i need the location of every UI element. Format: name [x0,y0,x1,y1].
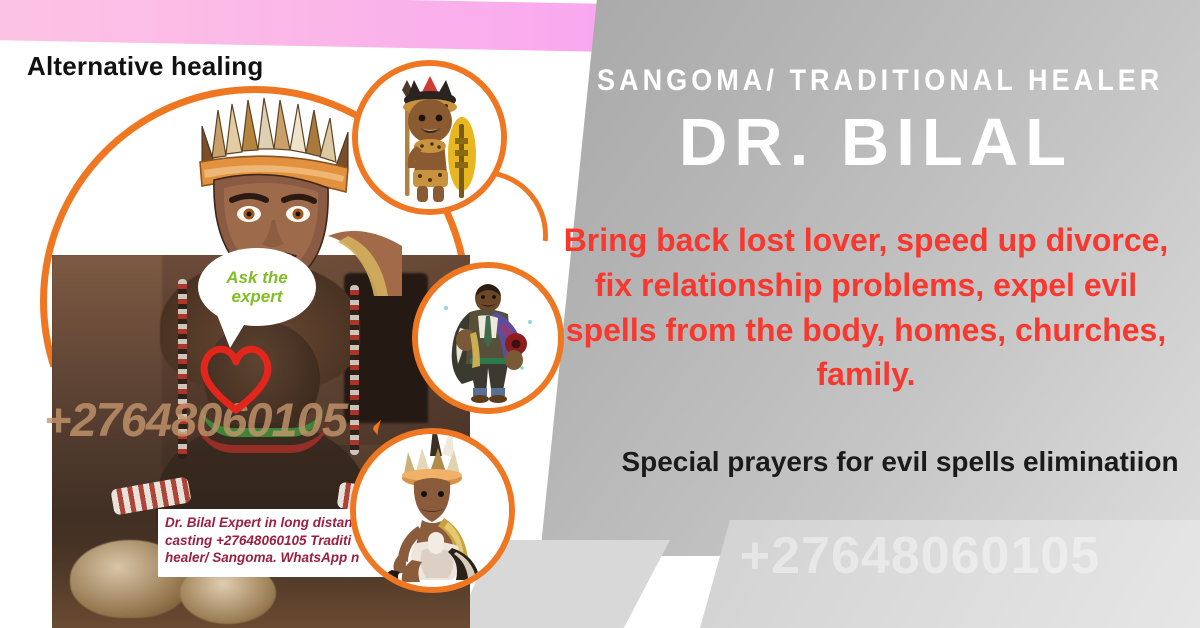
traditional-healer-figure-illustration [412,262,564,414]
page-title: Alternative healing [27,51,263,82]
services-text: Bring back lost lover, speed up divorce,… [546,218,1186,397]
sangoma-dancer-svg [356,434,509,587]
poster-canvas: Alternative healing [0,0,1200,628]
caption-line-3: healer/ Sangoma. WhatsApp n [165,549,391,567]
bubble-label: Ask the expert [198,268,316,306]
special-prayers-text: Special prayers for evil spells eliminat… [610,443,1190,482]
kicker-heading: SANGOMA/ TRADITIONAL HEALER [597,64,1155,98]
sangoma-dancer-illustration [350,428,515,593]
pink-accent-band [0,0,600,52]
ask-the-expert-bubble: Ask the expert [198,248,316,326]
zulu-warrior-child-illustration [352,60,507,215]
red-heart-outline [195,340,277,416]
healer-figure-svg [418,268,558,408]
warrior-child-svg [358,66,501,209]
healer-name-title: DR. BILAL [566,104,1186,181]
heart-svg [195,340,277,416]
watermark-phone: +27648060105 [640,526,1200,586]
